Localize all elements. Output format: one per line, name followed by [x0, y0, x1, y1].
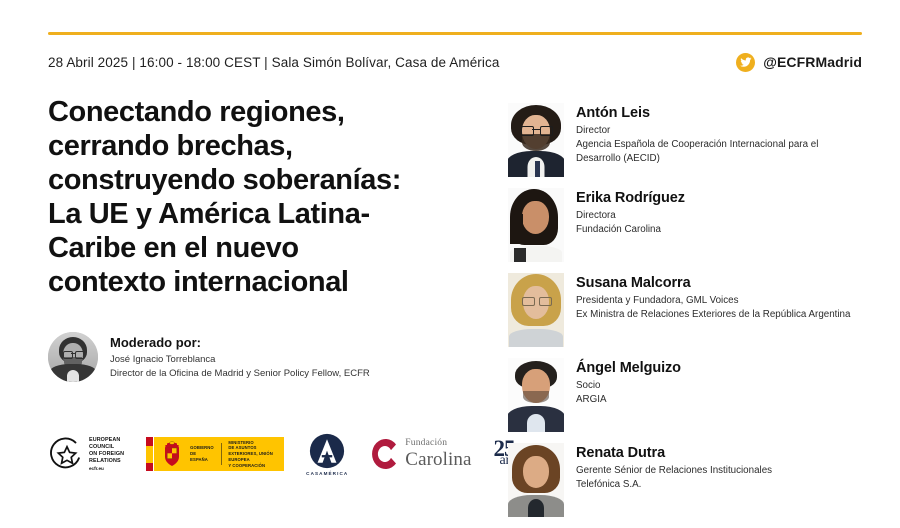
carolina-line-2: Carolina [405, 450, 471, 469]
top-accent-rule [48, 32, 862, 35]
title-line-4: La UE y América Latina- [48, 198, 468, 232]
logo-fundacion-carolina: Fundación Carolina [370, 438, 471, 470]
spain-flag-bar [146, 437, 153, 471]
event-poster: 28 Abril 2025 | 16:00 - 18:00 CEST | Sal… [0, 0, 900, 506]
title-line-3: construyendo soberanías: [48, 164, 468, 198]
speaker-role: Gerente Sénior de Relaciones Institucion… [576, 464, 772, 478]
speaker-item: Erika Rodríguez Directora Fundación Caro… [508, 188, 888, 262]
title-line-5: Caribe en el nuevo [48, 232, 468, 266]
speaker-org-line-1: ARGIA [576, 393, 681, 407]
speaker-info: Susana Malcorra Presidenta y Fundadora, … [576, 273, 850, 322]
carolina-line-1: Fundación [405, 439, 471, 449]
spain-ministerio-text: MINISTERIO DE ASUNTOS EXTERIORES, UNIÓN … [228, 440, 284, 468]
ecfr-line-1: EUROPEAN [89, 437, 124, 444]
ecfr-wordmark: EUROPEAN COUNCIL ON FOREIGN RELATIONS ec… [89, 437, 124, 471]
moderator-name: José Ignacio Torreblanca [110, 353, 370, 367]
moderator-avatar [48, 332, 98, 382]
title-line-6: contexto internacional [48, 266, 468, 300]
ecfr-line-4: RELATIONS [89, 458, 124, 465]
event-datetime-venue: 28 Abril 2025 | 16:00 - 18:00 CEST | Sal… [48, 55, 499, 70]
speaker-info: Antón Leis Director Agencia Española de … [576, 103, 818, 166]
ecfr-line-2: COUNCIL [89, 444, 124, 451]
moderator-label: Moderado por: [110, 335, 370, 350]
ecfr-line-3: ON FOREIGN [89, 451, 124, 458]
casa-america-wordmark: CASAMÉRICA [306, 471, 348, 476]
speaker-org-line-1: Telefónica S.A. [576, 478, 772, 492]
title-line-2: cerrando brechas, [48, 130, 468, 164]
speaker-role: Socio [576, 379, 681, 393]
spain-divider [221, 443, 222, 465]
spain-coat-of-arms-icon [161, 441, 183, 467]
spain-line-2: DE ESPAÑA [190, 451, 214, 462]
logo-casa-america: CASAMÉRICA [306, 433, 348, 476]
moderator-block: Moderado por: José Ignacio Torreblanca D… [48, 332, 468, 382]
speaker-name: Susana Malcorra [576, 274, 850, 292]
speaker-role: Director [576, 124, 818, 138]
spain-line-5: Y COOPERACIÓN [228, 463, 284, 469]
twitter-handle-text: @ECFRMadrid [763, 54, 862, 70]
speakers-list: Antón Leis Director Agencia Española de … [508, 103, 888, 528]
speaker-photo [508, 103, 564, 177]
page-title: Conectando regiones, cerrando brechas, c… [48, 96, 468, 300]
poster-header: 28 Abril 2025 | 16:00 - 18:00 CEST | Sal… [48, 48, 862, 76]
logo-ecfr: EUROPEAN COUNCIL ON FOREIGN RELATIONS ec… [50, 437, 124, 471]
twitter-handle[interactable]: @ECFRMadrid [736, 53, 862, 72]
speaker-item: Susana Malcorra Presidenta y Fundadora, … [508, 273, 888, 347]
speaker-name: Erika Rodríguez [576, 189, 685, 207]
title-block: Conectando regiones, cerrando brechas, c… [48, 96, 468, 300]
logo-gobierno-espana: GOBIERNO DE ESPAÑA MINISTERIO DE ASUNTOS… [146, 437, 284, 471]
speaker-info: Renata Dutra Gerente Sénior de Relacione… [576, 443, 772, 492]
speaker-photo [508, 358, 564, 432]
speaker-item: Ángel Melguizo Socio ARGIA [508, 358, 888, 432]
title-line-1: Conectando regiones, [48, 96, 468, 130]
spain-line-4: DE ASUNTOS EXTERIORES, UNIÓN EUROPEA [228, 445, 284, 462]
speaker-info: Erika Rodríguez Directora Fundación Caro… [576, 188, 685, 237]
speaker-role: Presidenta y Fundadora, GML Voices [576, 294, 850, 308]
spain-gobierno-text: GOBIERNO DE ESPAÑA [190, 445, 214, 462]
speaker-org-line-1: Agencia Española de Cooperación Internac… [576, 138, 818, 152]
speaker-org-line-1: Ex Ministra de Relaciones Exteriores de … [576, 308, 850, 322]
speaker-name: Antón Leis [576, 104, 818, 122]
speaker-org-line-2: Desarrollo (AECID) [576, 152, 818, 166]
casa-america-a-icon [309, 433, 345, 469]
speaker-photo [508, 273, 564, 347]
ecfr-star-circle-icon [50, 437, 84, 471]
moderator-role: Director de la Oficina de Madrid y Senio… [110, 367, 370, 381]
speaker-org-line-1: Fundación Carolina [576, 223, 685, 237]
twitter-icon [736, 53, 755, 72]
logo-strip: EUROPEAN COUNCIL ON FOREIGN RELATIONS ec… [50, 428, 540, 480]
speaker-name: Ángel Melguizo [576, 359, 681, 377]
speaker-item: Antón Leis Director Agencia Española de … [508, 103, 888, 177]
speaker-name: Renata Dutra [576, 444, 772, 462]
speaker-role: Directora [576, 209, 685, 223]
speaker-info: Ángel Melguizo Socio ARGIA [576, 358, 681, 407]
carolina-wordmark: Fundación Carolina [405, 439, 471, 469]
speaker-photo [508, 188, 564, 262]
moderator-text: Moderado por: José Ignacio Torreblanca D… [110, 332, 370, 381]
carolina-c-icon [370, 438, 398, 470]
ecfr-url: ecfr.eu [89, 466, 124, 471]
